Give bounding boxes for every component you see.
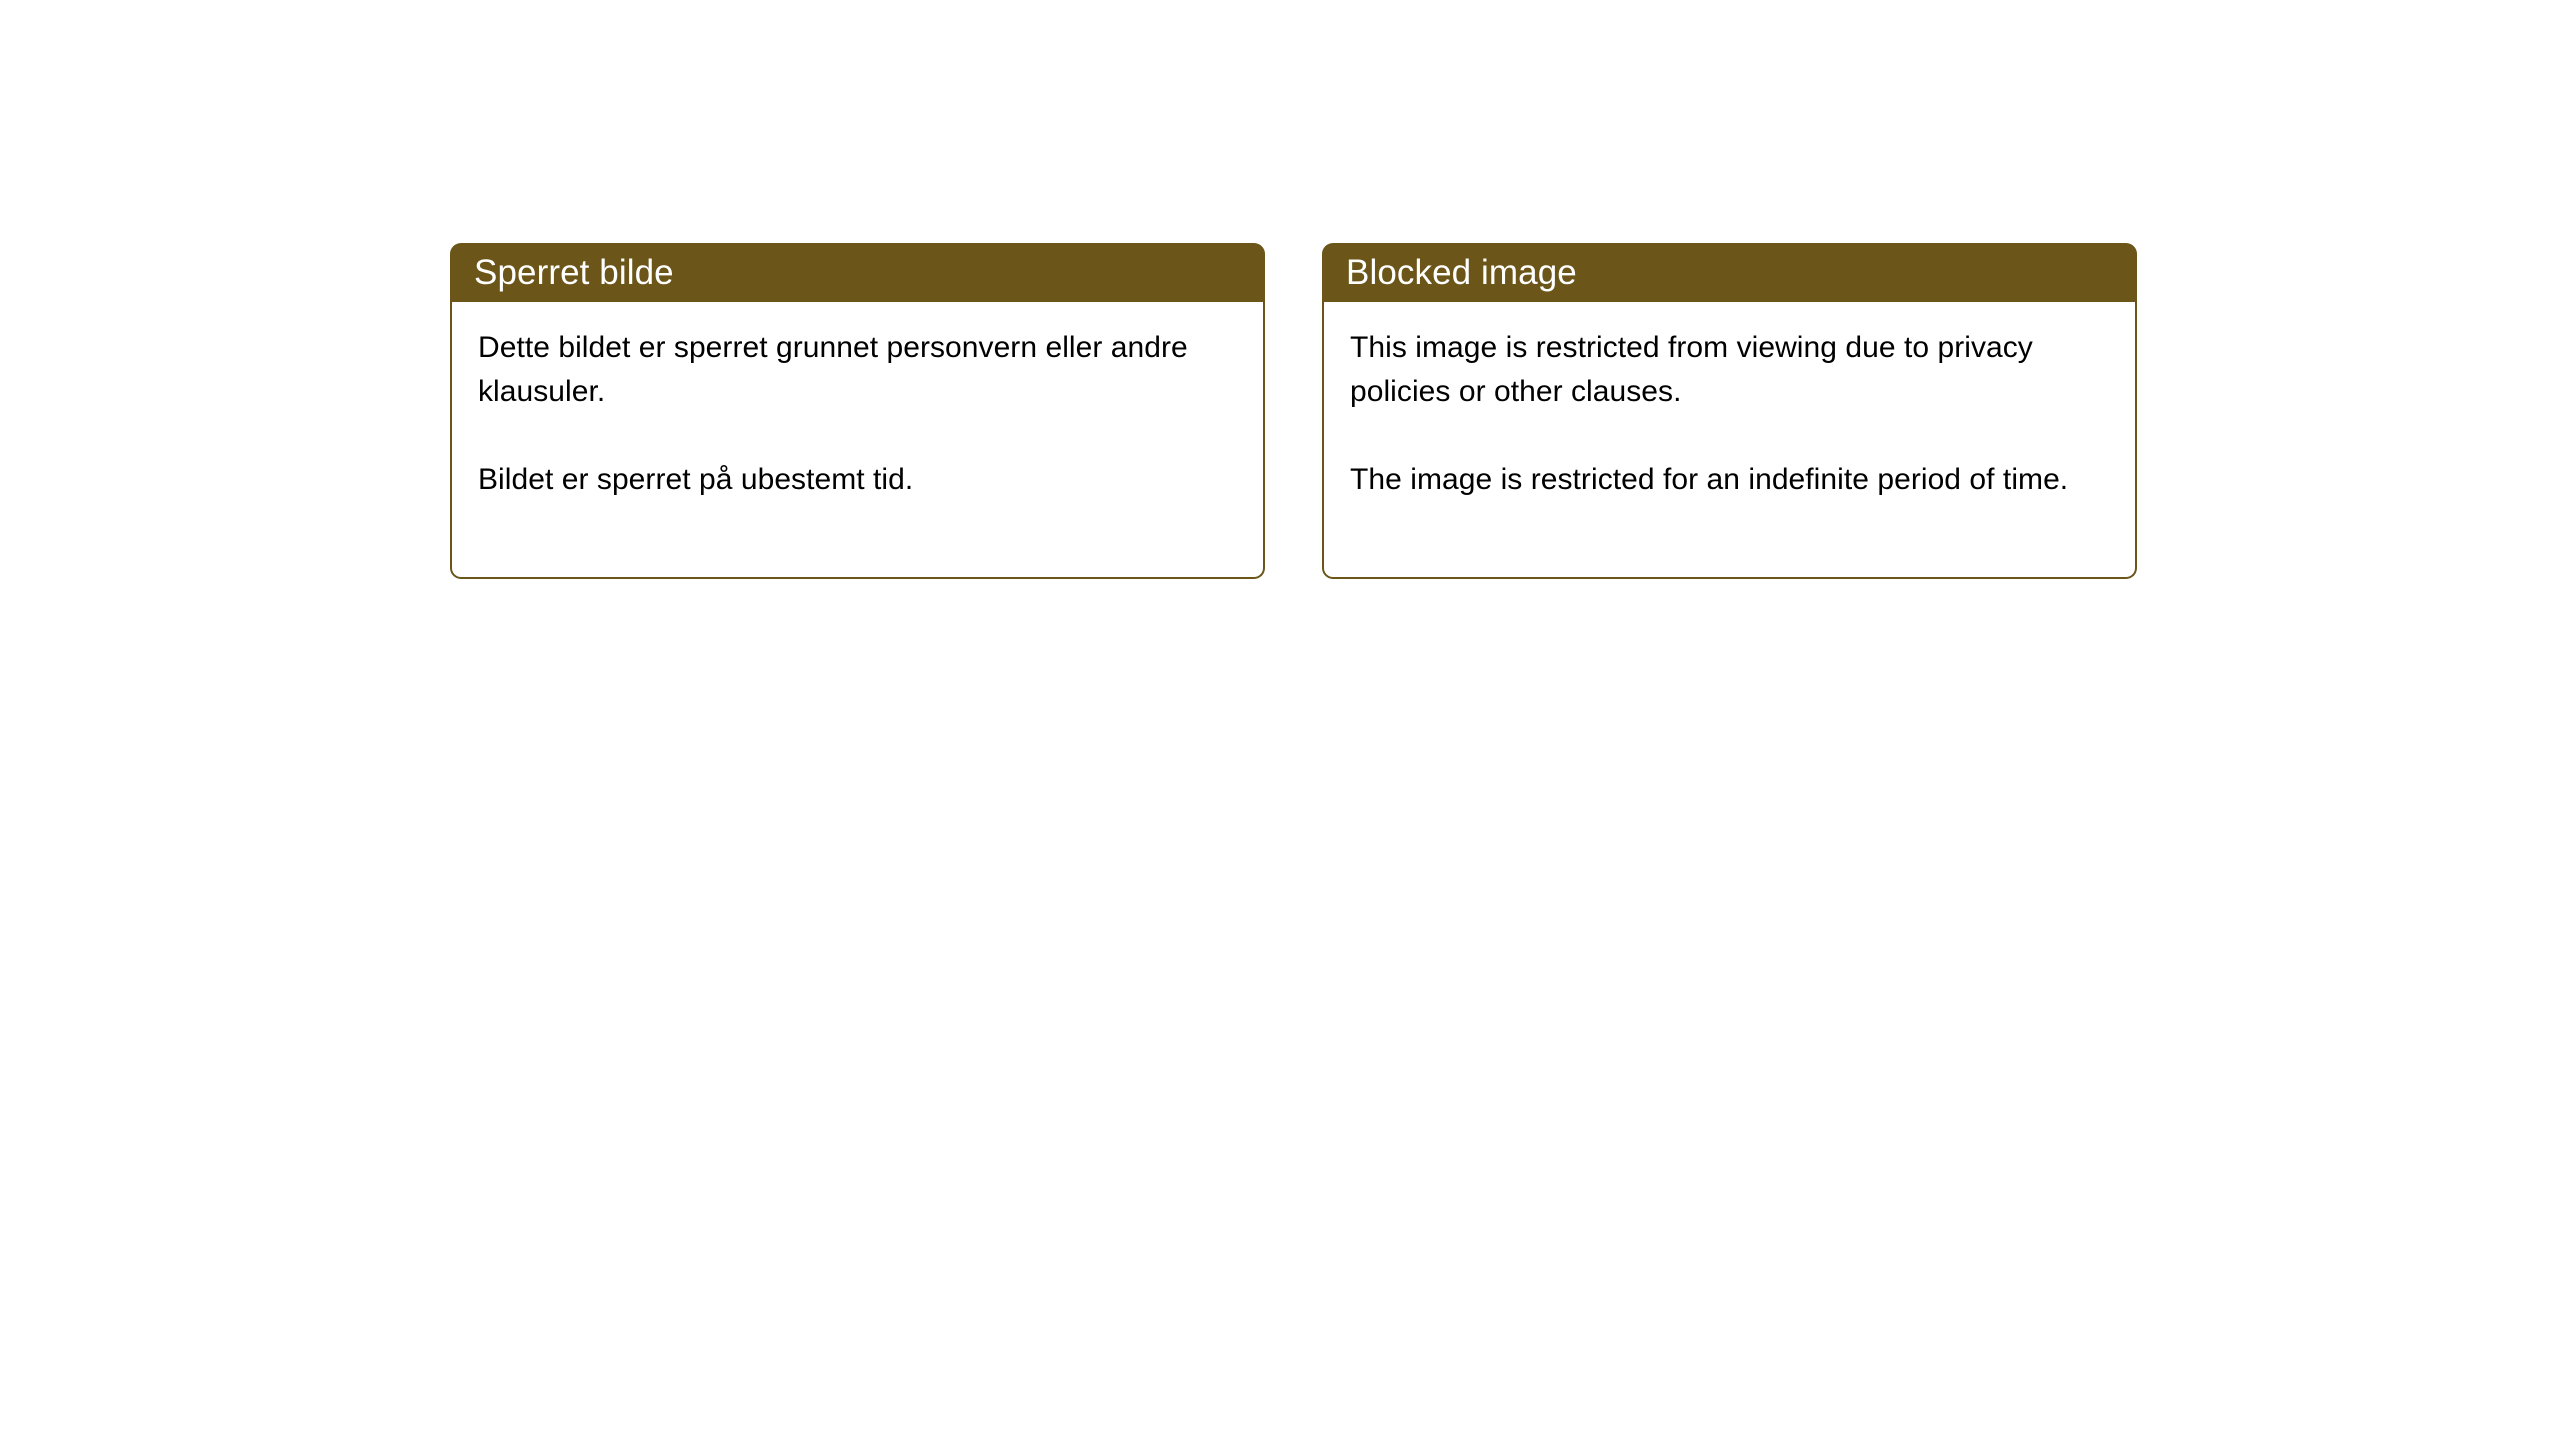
card-header-english: Blocked image [1322, 243, 2137, 302]
blocked-image-card-norwegian: Sperret bilde Dette bildet er sperret gr… [450, 243, 1265, 579]
card-paragraph-duration-norwegian: Bildet er sperret på ubestemt tid. [478, 458, 1237, 502]
blocked-image-notice-group: Sperret bilde Dette bildet er sperret gr… [450, 243, 2137, 579]
card-paragraph-reason-english: This image is restricted from viewing du… [1350, 326, 2109, 414]
card-title-english: Blocked image [1346, 254, 1577, 292]
card-title-norwegian: Sperret bilde [474, 254, 674, 292]
card-body-norwegian: Dette bildet er sperret grunnet personve… [450, 302, 1265, 579]
blocked-image-card-english: Blocked image This image is restricted f… [1322, 243, 2137, 579]
card-header-norwegian: Sperret bilde [450, 243, 1265, 302]
card-paragraph-duration-english: The image is restricted for an indefinit… [1350, 458, 2109, 502]
card-paragraph-reason-norwegian: Dette bildet er sperret grunnet personve… [478, 326, 1237, 414]
card-body-english: This image is restricted from viewing du… [1322, 302, 2137, 579]
